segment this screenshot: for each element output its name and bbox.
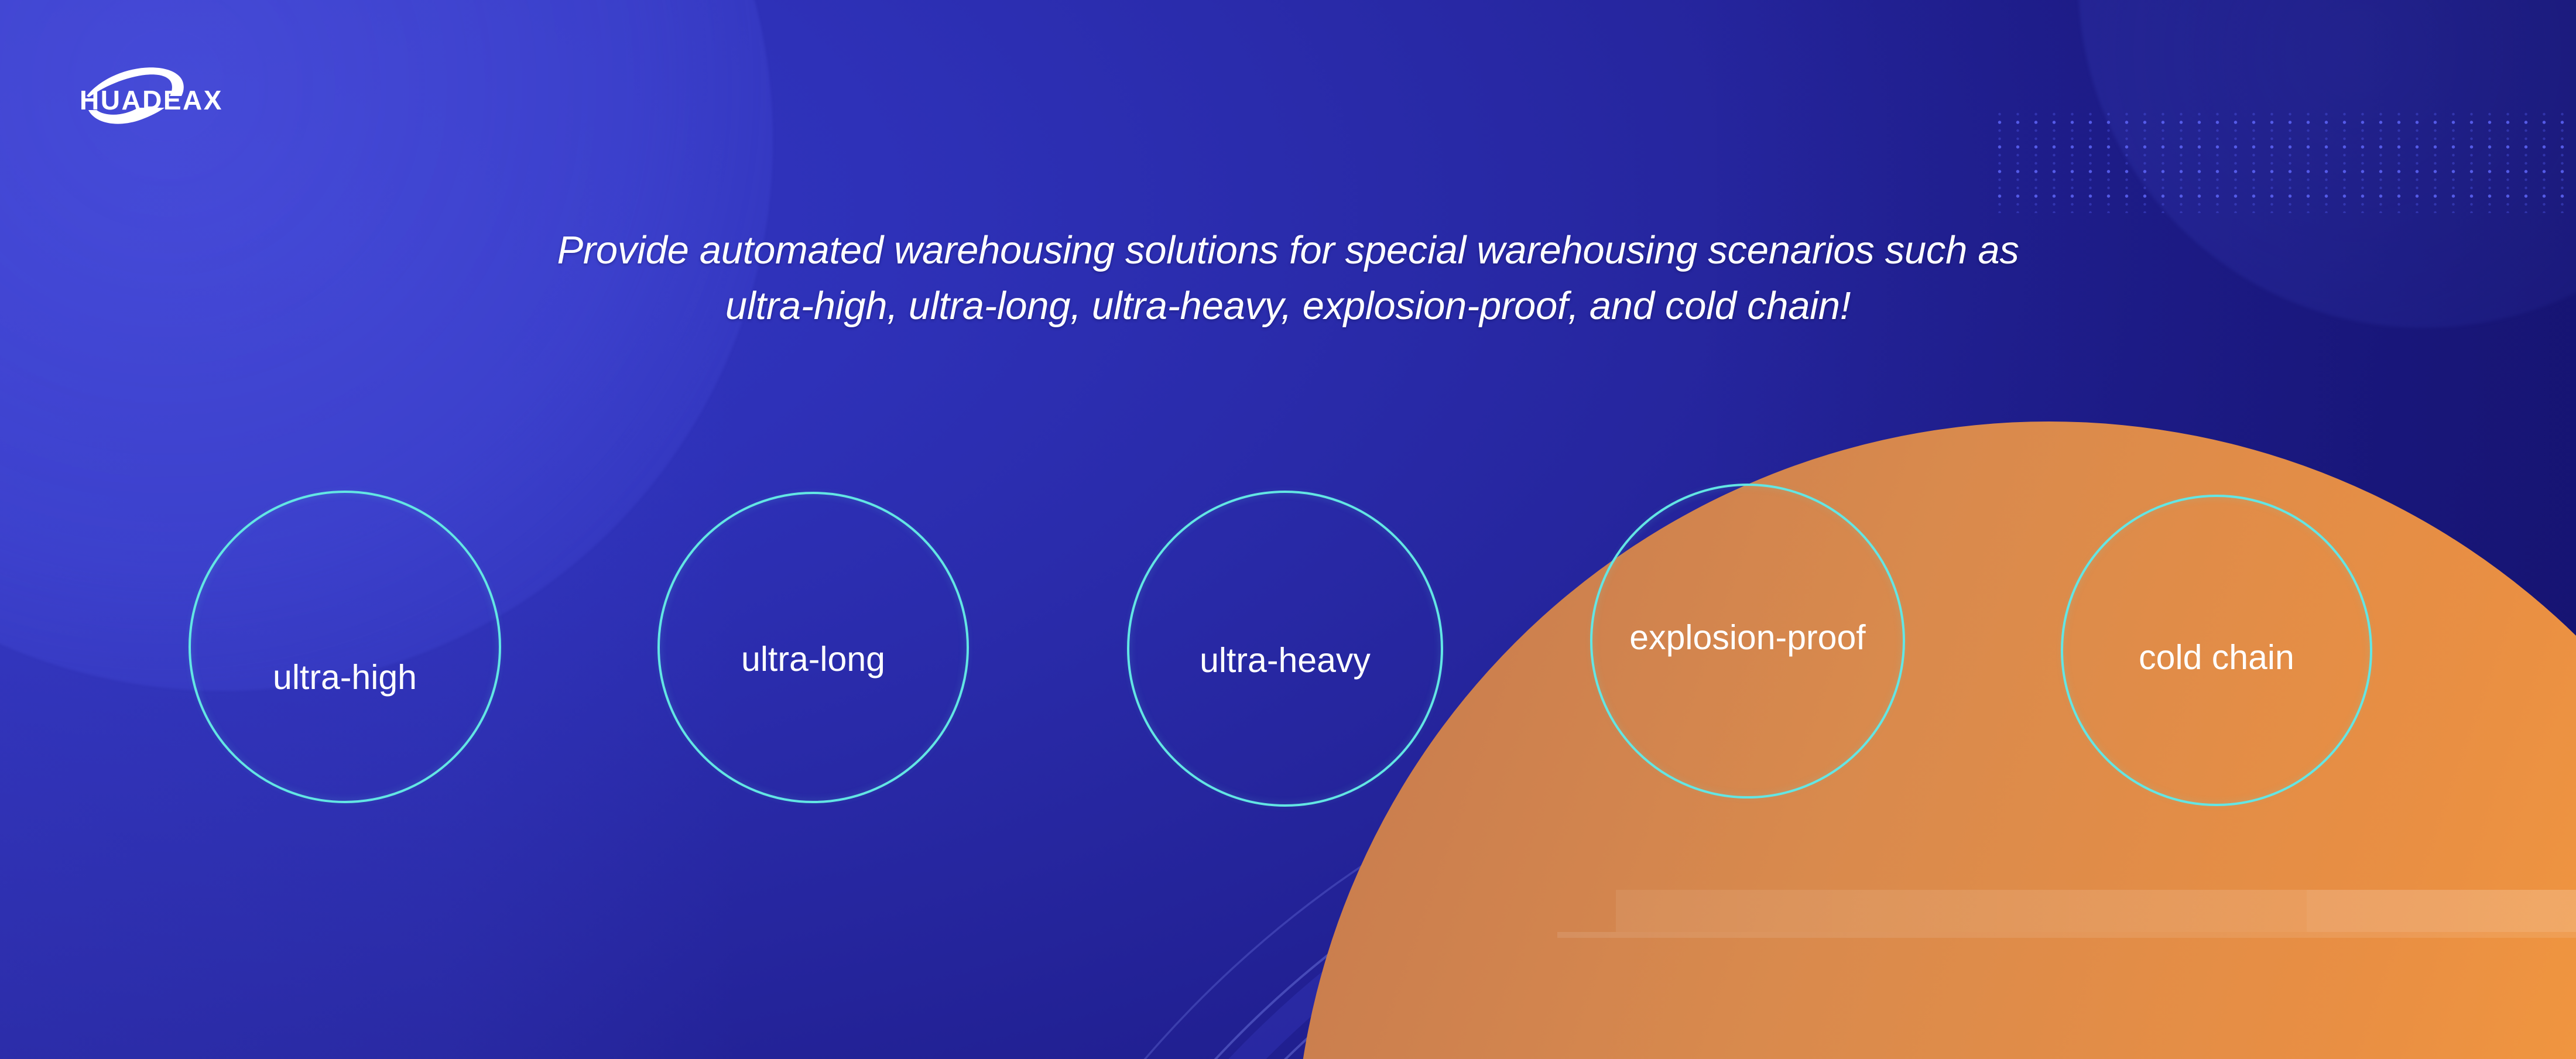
scenario-label: ultra-long [731,639,896,679]
scenario-label: ultra-heavy [1189,640,1381,680]
hero-banner: HUADEAX Provide automated warehousing so… [0,0,2576,1059]
scenario-label: cold chain [2128,638,2305,677]
scenario-circle-ultra-long[interactable]: ultra-long [657,492,969,803]
scenario-circle-ultra-heavy[interactable]: ultra-heavy [1127,491,1443,807]
scenario-label: explosion-proof [1619,618,1876,657]
scenario-circle-explosion-proof[interactable]: explosion-proof [1590,484,1905,798]
scenario-label: ultra-high [262,657,427,697]
scenario-circle-row: ultra-high ultra-long ultra-heavy explos… [0,0,2576,1059]
scenario-circle-cold-chain[interactable]: cold chain [2061,495,2372,806]
scenario-circle-ultra-high[interactable]: ultra-high [189,491,501,803]
